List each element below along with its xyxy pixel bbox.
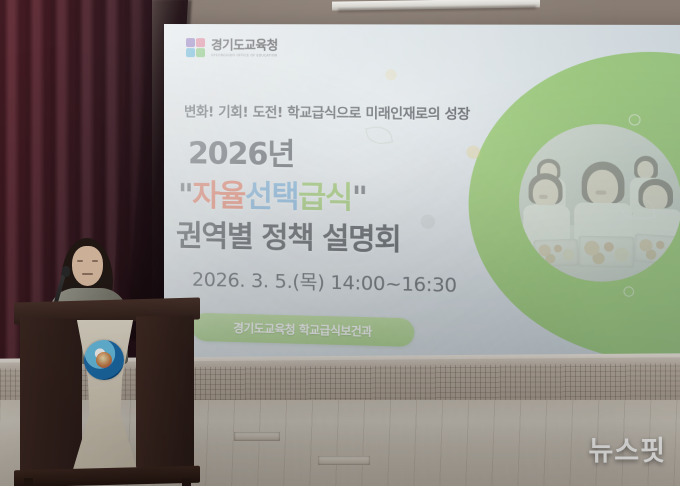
highlight-word-1: 자율 (192, 178, 245, 214)
microphone-head-icon (62, 266, 70, 277)
podium-side-right (136, 315, 194, 474)
podium-base (14, 466, 200, 486)
podium-leg-left (24, 478, 33, 486)
school-crest-emblem-icon (84, 340, 124, 380)
highlight-word-2: 선택 (245, 179, 298, 215)
department-label: 경기도교육청 학교급식보건과 (233, 320, 372, 340)
podium-leg-right (182, 478, 191, 486)
gyeonggi-education-logo: 경기도교육청 GYEONGGIDO OFFICE OF EDUCATION (186, 38, 278, 58)
slide-department-pill: 경기도교육청 학교급식보건과 (192, 313, 414, 347)
floor-vent-1 (234, 432, 280, 441)
quote-open-mark: " (178, 178, 192, 213)
slide-highlight-line: "자율선택급식" (178, 170, 366, 217)
highlight-word-3: 급식 (298, 180, 352, 216)
speaker-mouth (82, 273, 93, 275)
floor-vent-2 (318, 456, 370, 465)
podium-side-left (20, 317, 82, 479)
slide-subtitle: 권역별 정책 설명회 (176, 212, 401, 259)
slide-datetime: 2026. 3. 5.(목) 14:00~16:30 (192, 265, 457, 298)
soft-dot-yellow-2 (385, 69, 396, 80)
podium (14, 300, 200, 486)
speaker-eye-left (77, 260, 83, 262)
slide-year: 2026년 (188, 128, 294, 174)
speaker-face (72, 246, 103, 286)
projection-screen: 경기도교육청 GYEONGGIDO OFFICE OF EDUCATION 변화… (164, 24, 680, 382)
logo-organization-kr: 경기도교육청 (211, 39, 278, 52)
logo-organization-en: GYEONGGIDO OFFICE OF EDUCATION (211, 54, 278, 58)
photo-projection-haze (519, 123, 680, 283)
newsfit-watermark: 뉴스핏 (588, 429, 666, 468)
blob-dot-2 (623, 286, 634, 297)
logo-text-block: 경기도교육청 GYEONGGIDO OFFICE OF EDUCATION (211, 39, 278, 57)
school-lunch-photo (519, 123, 680, 283)
screenshot-root: 경기도교육청 GYEONGGIDO OFFICE OF EDUCATION 변화… (0, 0, 680, 486)
leaf-outline-left (365, 124, 393, 146)
logo-mark-icon (186, 38, 206, 58)
soft-dot-yellow-1 (466, 145, 480, 158)
quote-close-mark: " (352, 181, 367, 217)
slide-tagline: 변화! 기회! 도전! 학교급식으로 미래인재로의 성장 (184, 100, 470, 123)
speaker-eye-right (92, 260, 98, 262)
soft-dot-gray-1 (421, 214, 436, 229)
